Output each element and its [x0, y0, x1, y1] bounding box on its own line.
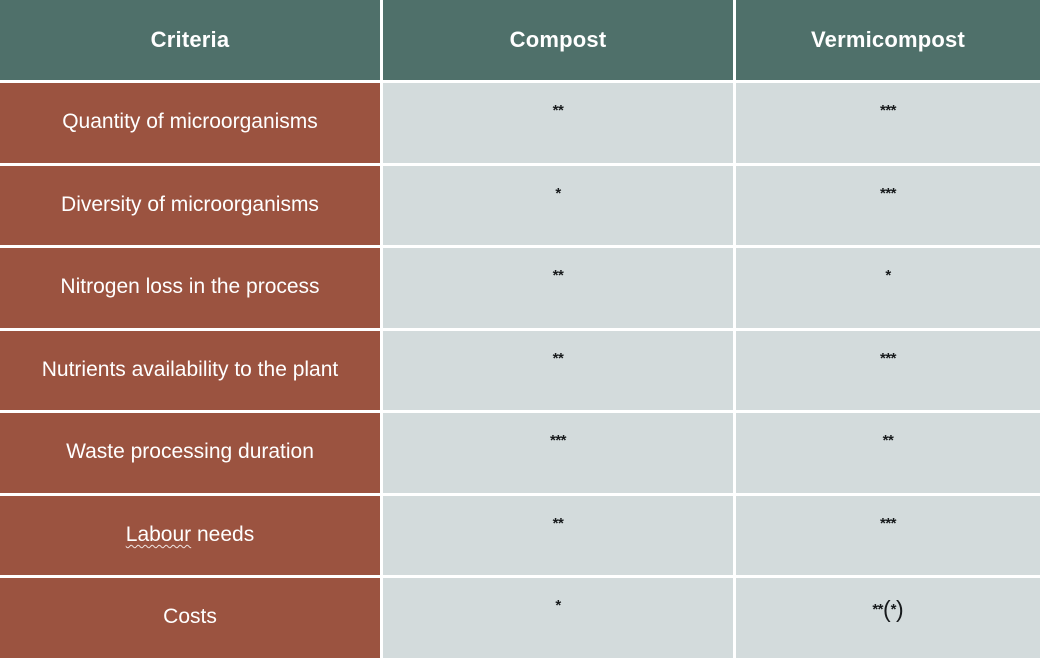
table-body: Quantity of microorganisms*****Diversity… [0, 80, 1040, 658]
comparison-table: Criteria Compost Vermicompost Quantity o… [0, 0, 1040, 658]
vermicompost-rating-stars: * [885, 268, 890, 283]
column-header-compost[interactable]: Compost [383, 0, 733, 80]
criteria-label: Labour needs [126, 522, 254, 548]
criteria-cell: Quantity of microorganisms [0, 83, 380, 163]
compost-rating-cell: ** [383, 331, 733, 411]
vermicompost-rating-stars: *** [880, 516, 896, 531]
criteria-label: Nitrogen loss in the process [60, 274, 319, 300]
criteria-label: Waste processing duration [66, 439, 314, 465]
compost-rating-stars: * [555, 186, 560, 201]
compost-rating-cell: *** [383, 413, 733, 493]
compost-rating-cell: * [383, 578, 733, 658]
compost-rating-stars: *** [550, 433, 566, 448]
compost-rating-cell: * [383, 166, 733, 246]
table-row: Waste processing duration***** [0, 413, 1040, 493]
spellcheck-flagged-word: Labour [126, 523, 191, 546]
compost-rating-stars: ** [553, 516, 564, 531]
vermicompost-rating-cell: ** [736, 413, 1040, 493]
compost-rating-stars: ** [553, 268, 564, 283]
column-header-criteria[interactable]: Criteria [0, 0, 380, 80]
rating-parenthesis: ( [883, 596, 891, 622]
criteria-label: Costs [163, 604, 217, 630]
vermicompost-rating-stars: *** [880, 186, 896, 201]
criteria-cell: Nutrients availability to the plant [0, 331, 380, 411]
criteria-label: Quantity of microorganisms [62, 109, 318, 135]
rating-parenthesis: ) [896, 596, 904, 622]
compost-rating-cell: ** [383, 248, 733, 328]
vermicompost-rating-cell: *** [736, 496, 1040, 576]
column-header-vermicompost[interactable]: Vermicompost [736, 0, 1040, 80]
criteria-cell: Nitrogen loss in the process [0, 248, 380, 328]
table-row: Costs***(*) [0, 578, 1040, 658]
vermicompost-rating-stars: *** [880, 351, 896, 366]
table-row: Labour needs***** [0, 496, 1040, 576]
vermicompost-rating-cell: *** [736, 331, 1040, 411]
criteria-cell: Costs [0, 578, 380, 658]
vermicompost-rating-cell: *** [736, 166, 1040, 246]
vermicompost-rating-stars: *** [880, 103, 896, 118]
compost-rating-stars: * [555, 598, 560, 613]
criteria-cell: Diversity of microorganisms [0, 166, 380, 246]
criteria-label: Diversity of microorganisms [61, 192, 319, 218]
table-row: Quantity of microorganisms***** [0, 83, 1040, 163]
compost-rating-cell: ** [383, 83, 733, 163]
compost-rating-stars: ** [553, 103, 564, 118]
table-row: Nutrients availability to the plant***** [0, 331, 1040, 411]
table-header-row: Criteria Compost Vermicompost [0, 0, 1040, 80]
table-row: Nitrogen loss in the process*** [0, 248, 1040, 328]
vermicompost-rating-cell: *** [736, 83, 1040, 163]
vermicompost-rating-cell: **(*) [736, 578, 1040, 658]
table-row: Diversity of microorganisms**** [0, 166, 1040, 246]
vermicompost-rating-cell: * [736, 248, 1040, 328]
criteria-cell: Labour needs [0, 496, 380, 576]
compost-rating-stars: ** [553, 351, 564, 366]
criteria-cell: Waste processing duration [0, 413, 380, 493]
vermicompost-rating-stars: **(*) [872, 598, 903, 617]
criteria-label: Nutrients availability to the plant [42, 357, 339, 383]
vermicompost-rating-stars: ** [883, 433, 894, 448]
compost-rating-cell: ** [383, 496, 733, 576]
